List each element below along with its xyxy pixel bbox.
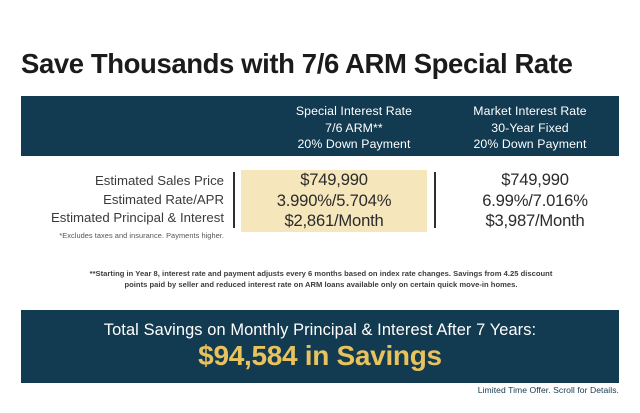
savings-amount: $94,584 in Savings [198,341,442,371]
header-market-line-2: 30-Year Fixed [441,120,619,137]
disclaimer-line-1: **Starting in Year 8, interest rate and … [40,268,602,279]
header-market-line-1: Market Interest Rate [441,103,619,120]
savings-heading: Total Savings on Monthly Principal & Int… [104,321,536,340]
page-title: Save Thousands with 7/6 ARM Special Rate [21,50,621,79]
row-labels-column: Estimated Sales Price Estimated Rate/APR… [18,172,224,240]
disclaimer-text: **Starting in Year 8, interest rate and … [40,268,602,291]
header-special-line-1: Special Interest Rate [239,103,469,120]
divider-left [233,172,235,228]
comparison-header-bar: Special Interest Rate 7/6 ARM** 20% Down… [21,96,619,156]
header-market-line-3: 20% Down Payment [441,136,619,153]
market-sales-price: $749,990 [501,170,569,191]
special-sales-price: $749,990 [300,170,368,191]
header-special-line-3: 20% Down Payment [239,136,469,153]
row-label-principal-interest: Estimated Principal & Interest [18,209,224,228]
comparison-section: Estimated Sales Price Estimated Rate/APR… [0,170,640,246]
market-rate-apr: 6.99%/7.016% [482,191,588,212]
special-rate-apr: 3.990%/5.704% [277,191,392,212]
special-principal-interest: $2,861/Month [284,211,383,232]
market-values-column: $749,990 6.99%/7.016% $3,987/Month [445,170,625,232]
header-special-line-2: 7/6 ARM** [239,120,469,137]
divider-right [434,172,436,228]
header-column-special: Special Interest Rate 7/6 ARM** 20% Down… [239,103,469,153]
market-principal-interest: $3,987/Month [485,211,584,232]
row-label-rate-apr: Estimated Rate/APR [18,191,224,210]
footer-note: Limited Time Offer. Scroll for Details. [478,385,619,395]
row-label-sales-price: Estimated Sales Price [18,172,224,191]
special-values-box: $749,990 3.990%/5.704% $2,861/Month [241,170,427,232]
promo-card: Save Thousands with 7/6 ARM Special Rate… [0,0,640,413]
labels-footnote: *Excludes taxes and insurance. Payments … [18,231,224,240]
total-savings-panel: Total Savings on Monthly Principal & Int… [21,310,619,383]
header-column-market: Market Interest Rate 30-Year Fixed 20% D… [441,103,619,153]
disclaimer-line-2: points paid by seller and reduced intere… [40,279,602,290]
